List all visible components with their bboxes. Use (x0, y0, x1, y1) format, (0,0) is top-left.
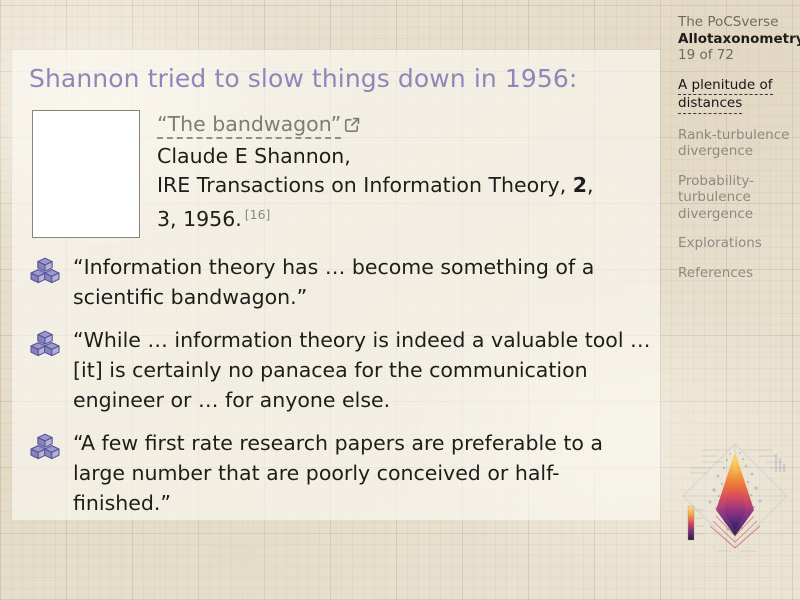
allotaxonograph-thumbnail[interactable] (672, 432, 798, 558)
sidebar-item-label: distances (678, 95, 742, 114)
list-item: “While … information theory is indeed a … (30, 325, 655, 415)
sidebar-item-label: divergence (678, 143, 753, 159)
slide-counter: 19 of 72 (678, 47, 794, 64)
quote-list: “Information theory has … become somethi… (30, 252, 655, 531)
sidebar-item-label: A plenitude of (678, 77, 773, 96)
citation-title-line: “The bandwagon” (157, 110, 657, 142)
sidebar-item-a-plenitude-of-distances[interactable]: A plenitude of distances (678, 77, 794, 114)
sidebar-item-label: Explorations (678, 235, 762, 251)
sidebar-item-label: References (678, 265, 753, 281)
paper-link[interactable]: “The bandwagon” (157, 112, 341, 139)
quote-text: “Information theory has … become somethi… (73, 252, 655, 312)
quote-text: “While … information theory is indeed a … (73, 325, 655, 415)
citation-author: Claude E Shannon, (157, 142, 657, 171)
sidebar-item-label: Probability- (678, 173, 754, 189)
reference-mark[interactable]: [16] (245, 207, 271, 222)
sidebar-item-rank-turbulence-divergence[interactable]: Rank-turbulence divergence (678, 127, 794, 160)
sidebar-item-probability-turbulence-divergence[interactable]: Probability- turbulence divergence (678, 173, 794, 223)
paper-thumbnail[interactable] (32, 110, 140, 238)
citation-journal: IRE Transactions on Information Theory, … (157, 171, 657, 200)
cubes-icon (30, 330, 60, 358)
citation-pages-year: 3, 1956.[16] (157, 200, 657, 234)
sidebar-item-explorations[interactable]: Explorations (678, 235, 794, 252)
sidebar-item-label: turbulence (678, 189, 751, 205)
brand-line-2: Allotaxonometry (678, 31, 794, 48)
list-item: “A few first rate research papers are pr… (30, 428, 655, 518)
list-item: “Information theory has … become somethi… (30, 252, 655, 312)
sidebar: The PoCSverse Allotaxonometry 19 of 72 A… (678, 14, 794, 294)
cubes-icon (30, 433, 60, 461)
sidebar-item-label: divergence (678, 206, 753, 222)
citation-journal-text: IRE Transactions on Information Theory, (157, 173, 573, 197)
brand-line-1: The PoCSverse (678, 14, 794, 31)
page-title: Shannon tried to slow things down in 195… (29, 64, 577, 93)
quote-text: “A few first rate research papers are pr… (73, 428, 655, 518)
slide-background: Shannon tried to slow things down in 195… (0, 0, 800, 600)
citation-volume: 2 (573, 173, 587, 197)
sidebar-item-label: Rank-turbulence (678, 127, 789, 143)
citation-pages-text: 3, 1956. (157, 207, 242, 231)
citation-volume-suffix: , (587, 173, 594, 197)
citation-block: “The bandwagon” Claude E Shannon, IRE Tr… (157, 110, 657, 234)
sidebar-item-references[interactable]: References (678, 265, 794, 282)
cubes-icon (30, 257, 60, 285)
external-link-icon[interactable] (343, 113, 362, 142)
